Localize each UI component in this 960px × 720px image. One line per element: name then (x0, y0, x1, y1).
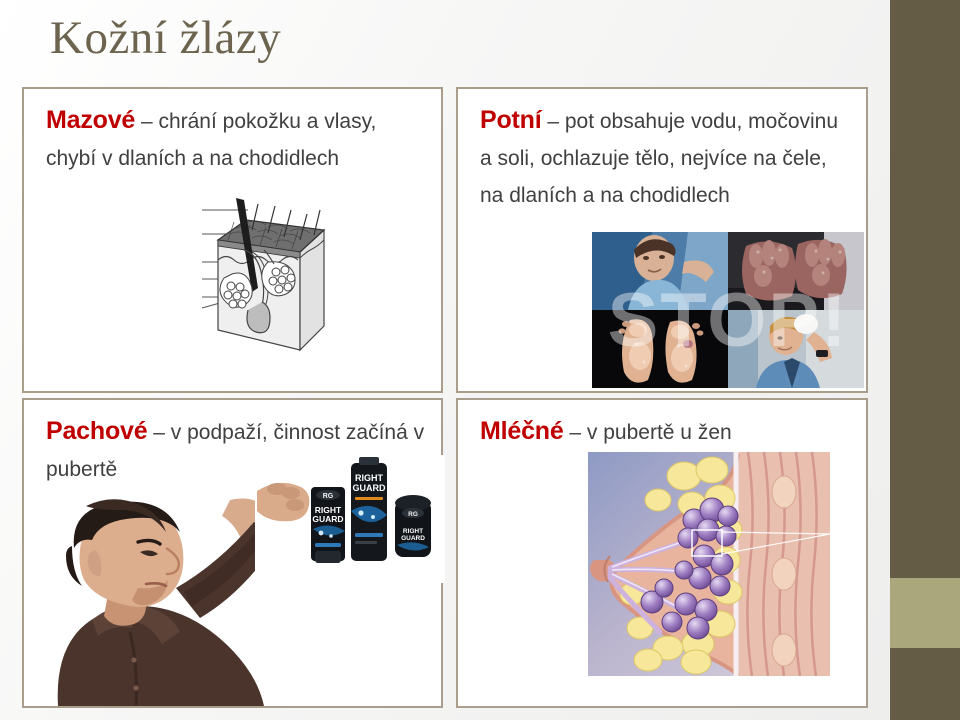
gland-name-mlecne: Mléčné (480, 417, 564, 445)
box-potni-text: Potní – pot obsahuje vodu, močovinu a so… (458, 89, 866, 215)
sidebar-bar-khaki (890, 578, 960, 648)
svg-text:GUARD: GUARD (401, 535, 425, 542)
sweating-photo-collage: STOP! (592, 232, 864, 388)
skin-cross-section-diagram (200, 190, 400, 390)
photo-sweaty-feet (592, 310, 728, 388)
box-mlecne-text: Mléčné – v pubertě u žen (458, 400, 866, 452)
photo-wiping-forehead (728, 310, 864, 388)
page-title: Kožní žlázy (50, 8, 281, 68)
svg-text:RG: RG (323, 493, 334, 500)
box-mazove-text: Mazové – chrání pokožku a vlasy, chybí v… (24, 89, 441, 178)
svg-text:GUARD: GUARD (353, 483, 386, 493)
photo-sweat-man-lying (592, 232, 728, 310)
svg-text:RIGHT: RIGHT (403, 528, 423, 535)
svg-text:RG: RG (408, 511, 418, 518)
gland-name-pachove: Pachové (46, 417, 147, 445)
deodorant-products-photo: RG RIGHT GUARD RIGHT GUARD RG RIGHT GUAR… (255, 455, 445, 583)
right-decorative-sidebar (890, 0, 960, 720)
gland-description-mlecne: – v pubertě u žen (564, 421, 732, 444)
svg-text:RIGHT: RIGHT (355, 473, 384, 483)
photo-sweaty-palms (728, 232, 864, 310)
sidebar-bar-dark-bottom (890, 648, 960, 720)
breast-cross-section-diagram (588, 452, 830, 676)
gland-name-mazove: Mazové (46, 106, 135, 134)
svg-text:GUARD: GUARD (312, 514, 343, 524)
sidebar-bar-dark-top (890, 0, 960, 578)
gland-name-potni: Potní (480, 106, 542, 134)
man-smelling-armpit-photo (34, 492, 292, 706)
